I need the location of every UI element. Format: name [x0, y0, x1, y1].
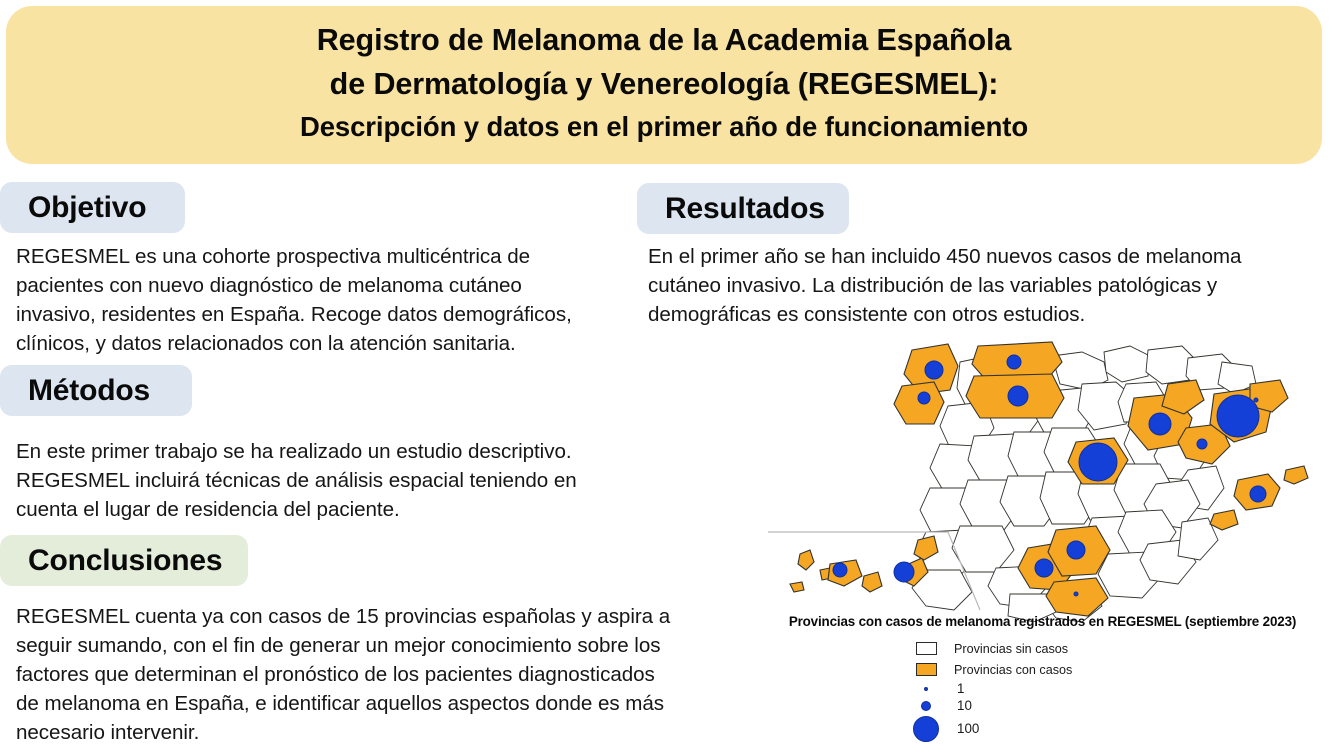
section-body-objetivo: REGESMEL es una cohorte prospectiva mult… — [16, 243, 616, 359]
map-caption: Provincias con casos de melanoma registr… — [752, 614, 1333, 629]
case-marker-zaragoza — [1149, 413, 1171, 435]
case-marker-a-coruna — [925, 361, 943, 379]
legend-label-with-cases: Provincias con casos — [954, 663, 1072, 677]
section-heading-objetivo-label: Objetivo — [28, 193, 146, 223]
legend-swatch-size-10 — [904, 701, 948, 711]
section-heading-metodos: Métodos — [0, 365, 192, 416]
legend-swatch-no-cases — [904, 642, 948, 655]
legend-label-size-10: 10 — [957, 698, 972, 713]
title-line-3: Descripción y datos en el primer año de … — [300, 107, 1028, 147]
legend-row-size-10: 10 — [904, 697, 1204, 714]
island-el-hierro — [790, 582, 804, 592]
circle-small-icon — [924, 687, 928, 691]
section-body-metodos: En este primer trabajo se ha realizado u… — [16, 438, 636, 525]
case-marker-barcelona — [1217, 395, 1259, 437]
case-marker-girona — [1254, 398, 1258, 402]
island-gran-canaria — [862, 572, 882, 592]
legend-swatch-size-1 — [904, 687, 948, 691]
case-marker-santa-cruz-tenerife — [833, 563, 847, 577]
section-heading-conclusiones: Conclusiones — [0, 535, 248, 586]
legend-row-size-100: 100 — [904, 714, 1204, 743]
map-legend: Provincias sin casos Provincias con caso… — [904, 638, 1204, 743]
case-marker-asturias — [1007, 355, 1021, 369]
section-heading-objetivo: Objetivo — [0, 182, 185, 233]
legend-swatch-size-100 — [904, 716, 948, 742]
map-figure: Provincias con casos de melanoma registr… — [752, 332, 1333, 756]
island-la-palma — [798, 550, 814, 570]
spain-provinces-map — [752, 332, 1333, 622]
circle-large-icon — [913, 716, 939, 742]
title-line-1: Registro de Melanoma de la Academia Espa… — [317, 19, 1012, 63]
case-marker-cordoba — [1067, 541, 1085, 559]
case-marker-tarragona — [1197, 439, 1207, 449]
case-marker-malaga — [1074, 592, 1078, 596]
section-body-resultados: En el primer año se han incluido 450 nue… — [648, 243, 1308, 330]
case-marker-illes-balears — [1250, 486, 1266, 502]
legend-label-no-cases: Provincias sin casos — [954, 642, 1068, 656]
legend-label-size-100: 100 — [957, 721, 979, 736]
section-heading-resultados: Resultados — [637, 183, 849, 234]
section-heading-conclusiones-label: Conclusiones — [28, 546, 222, 576]
orange-square-icon — [916, 663, 937, 676]
poster-title-banner: Registro de Melanoma de la Academia Espa… — [6, 6, 1322, 164]
title-line-2: de Dermatología y Venereología (REGESMEL… — [330, 63, 999, 107]
case-marker-pontevedra — [918, 392, 930, 404]
case-marker-leon — [1008, 386, 1028, 406]
section-body-conclusiones: REGESMEL cuenta ya con casos de 15 provi… — [16, 603, 746, 748]
section-heading-resultados-label: Resultados — [665, 194, 825, 224]
legend-swatch-with-cases — [904, 663, 948, 676]
legend-row-no-cases: Provincias sin casos — [904, 638, 1204, 659]
province-illes-balears-ibiza — [1210, 510, 1238, 530]
province-pontevedra — [894, 382, 944, 424]
case-marker-las-palmas — [894, 562, 914, 582]
legend-label-size-1: 1 — [957, 681, 964, 696]
province-malaga — [1046, 578, 1108, 616]
legend-row-size-1: 1 — [904, 680, 1204, 697]
case-marker-sevilla — [1035, 559, 1053, 577]
legend-row-with-cases: Provincias con casos — [904, 659, 1204, 680]
white-square-icon — [916, 642, 937, 655]
circle-medium-icon — [921, 701, 931, 711]
province-illes-balears-menorca — [1284, 466, 1308, 484]
case-marker-madrid — [1079, 443, 1117, 481]
section-heading-metodos-label: Métodos — [28, 376, 150, 406]
